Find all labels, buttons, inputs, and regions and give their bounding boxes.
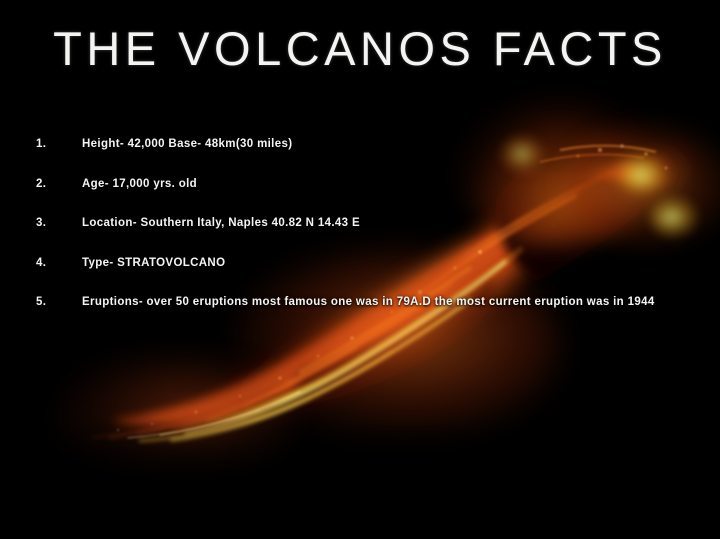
list-item: 3. Location- Southern Italy, Naples 40.8… xyxy=(0,217,720,257)
list-item-text: Height- 42,000 Base- 48km(30 miles) xyxy=(82,138,712,150)
list-item: 4. Type- STRATOVOLCANO xyxy=(0,257,720,297)
list-item-number: 4. xyxy=(36,257,58,269)
slide-canvas: THE VOLCANOS FACTS 1. Height- 42,000 Bas… xyxy=(0,0,720,539)
list-item: 5. Eruptions- over 50 eruptions most fam… xyxy=(0,296,720,336)
list-item-number: 1. xyxy=(36,138,58,150)
list-item-number: 5. xyxy=(36,296,58,308)
list-item: 1. Height- 42,000 Base- 48km(30 miles) xyxy=(0,138,720,178)
list-item-number: 2. xyxy=(36,178,58,190)
list-item-text: Type- STRATOVOLCANO xyxy=(82,257,712,269)
list-item-text: Eruptions- over 50 eruptions most famous… xyxy=(82,296,712,308)
list-item: 2. Age- 17,000 yrs. old xyxy=(0,178,720,218)
facts-list: 1. Height- 42,000 Base- 48km(30 miles) 2… xyxy=(0,138,720,336)
list-item-text: Location- Southern Italy, Naples 40.82 N… xyxy=(82,217,712,229)
page-title: THE VOLCANOS FACTS xyxy=(0,24,720,74)
slide-content: THE VOLCANOS FACTS 1. Height- 42,000 Bas… xyxy=(0,0,720,539)
list-item-text: Age- 17,000 yrs. old xyxy=(82,178,712,190)
list-item-number: 3. xyxy=(36,217,58,229)
